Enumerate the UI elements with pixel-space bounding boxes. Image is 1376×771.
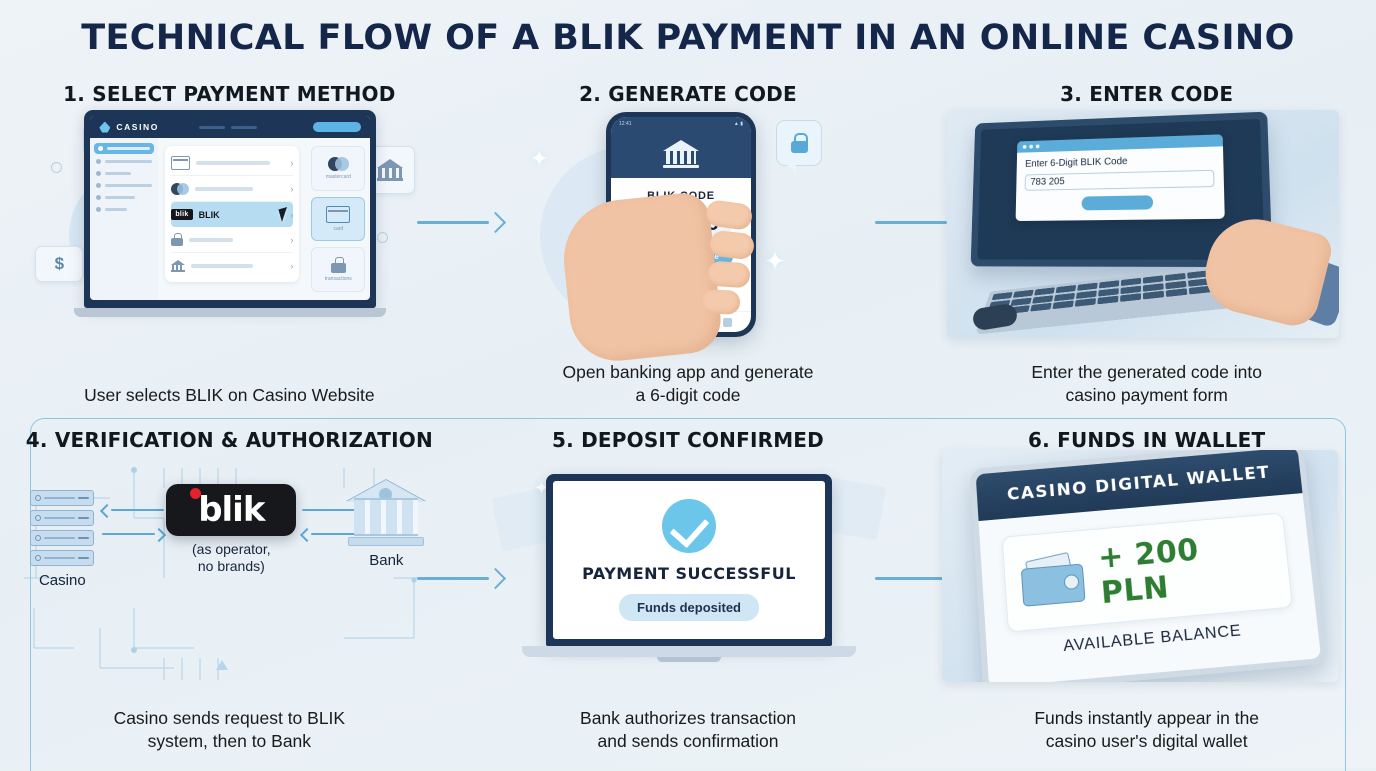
laptop-base — [74, 308, 386, 317]
finger — [702, 289, 741, 314]
server-unit — [30, 550, 94, 566]
caption-line: Bank authorizes transaction — [459, 707, 918, 729]
sidebar-item[interactable] — [96, 171, 152, 176]
tile-label: mastercard — [326, 174, 351, 180]
steps-row-top: 1. SELECT PAYMENT METHOD $ — [0, 82, 1376, 412]
scene-photo: CASINO DIGITAL WALLET + 200 PLN AVAILABL… — [942, 450, 1338, 682]
mastercard-icon — [328, 157, 348, 171]
note-line: no brands) — [166, 558, 296, 575]
payment-method-row-card[interactable]: › — [171, 150, 293, 176]
chevron-right-icon: › — [290, 210, 293, 220]
bank-node: Bank — [346, 480, 426, 569]
bank-label: Bank — [346, 552, 426, 569]
blik-dot-icon — [190, 488, 201, 499]
deposit-amount: + 200 PLN — [1097, 527, 1275, 611]
nav-placeholder[interactable] — [199, 126, 225, 129]
step-2-caption: Open banking app and generate a 6-digit … — [459, 361, 918, 406]
bank-app-header — [611, 130, 751, 178]
sidebar-item[interactable] — [96, 207, 152, 212]
caption-line: Open banking app and generate — [459, 361, 918, 383]
step-2: 2. GENERATE CODE ✦ ✦ 12:41 ▲ ▮ — [459, 82, 918, 412]
status-time: 12:41 — [619, 121, 632, 127]
bank-icon — [346, 480, 426, 546]
sidebar-item[interactable] — [96, 183, 152, 188]
window-dot — [1029, 145, 1033, 149]
chevron-right-icon: › — [290, 184, 293, 194]
casino-label: Casino — [30, 572, 94, 589]
lock-icon — [331, 257, 346, 273]
caption-line: a 6-digit code — [459, 384, 918, 406]
phone-status-bar: 12:41 ▲ ▮ — [611, 117, 751, 130]
payment-method-row-bank[interactable]: › — [171, 253, 293, 278]
blik-logo: blik — [166, 484, 296, 536]
site-header: CASINO — [90, 116, 370, 138]
tile-label: transactions — [325, 276, 352, 282]
caption-line: casino payment form — [917, 384, 1376, 406]
blik-note: (as operator, no brands) — [166, 541, 296, 575]
sidebar-item[interactable] — [96, 195, 152, 200]
step-4: 4. VERIFICATION & AUTHORIZATION — [0, 428, 459, 758]
dollar-card-icon: $ — [35, 246, 83, 282]
profile-icon[interactable] — [723, 318, 732, 327]
step-5-illustration: ✦ PAYMENT SUCCESSFUL Funds deposited — [488, 450, 888, 715]
payment-status-text: PAYMENT SUCCESSFUL — [582, 564, 796, 583]
step-6-caption: Funds instantly appear in the casino use… — [917, 707, 1376, 752]
tile-mastercard[interactable]: mastercard — [311, 146, 365, 191]
laptop-device: PAYMENT SUCCESSFUL Funds deposited — [546, 474, 832, 662]
decorative-circle-icon — [377, 232, 388, 243]
site-body: › › blik BLIK — [90, 138, 370, 300]
casino-payment-form: Enter 6-Digit BLIK Code 783 205 — [1015, 134, 1224, 221]
tile-label: card — [333, 226, 343, 232]
bank-icon — [663, 140, 699, 168]
step-1-illustration: $ CASINO — [29, 110, 429, 360]
laptop-lid: PAYMENT SUCCESSFUL Funds deposited — [546, 474, 832, 646]
step-3: 3. ENTER CODE Enter — [917, 82, 1376, 412]
step-5-heading: 5. DEPOSIT CONFIRMED — [459, 428, 918, 452]
sparkle-icon: ✦ — [530, 146, 548, 172]
lock-icon — [171, 233, 183, 246]
step-1-caption: User selects BLIK on Casino Website — [0, 384, 459, 406]
caption-line: Funds instantly appear in the — [917, 707, 1376, 729]
arrow-blik-to-casino — [102, 504, 164, 515]
finger — [707, 261, 751, 289]
tile-transactions[interactable]: transactions — [311, 247, 365, 292]
step-6: 6. FUNDS IN WALLET CASINO DIGITAL WALLET — [917, 428, 1376, 758]
step-4-illustration: Casino blik (as operator, no brands) — [14, 458, 444, 688]
window-dot — [1035, 144, 1039, 148]
caption-line: Casino sends request to BLIK — [0, 707, 459, 729]
payment-tiles: mastercard card transactions — [306, 138, 370, 300]
page-title: TECHNICAL FLOW OF A BLIK PAYMENT IN AN O… — [0, 18, 1376, 58]
chevron-right-icon: › — [290, 158, 293, 168]
hand-holding-phone — [558, 191, 724, 366]
blik-logo-icon: blik — [171, 209, 192, 220]
step-1-heading: 1. SELECT PAYMENT METHOD — [0, 82, 459, 106]
laptop-lid: CASINO — [84, 110, 376, 308]
payment-method-label-blik: BLIK — [199, 210, 220, 220]
server-unit — [30, 530, 94, 546]
step-4-caption: Casino sends request to BLIK system, the… — [0, 707, 459, 752]
payment-method-row-blik[interactable]: blik BLIK › — [171, 202, 293, 227]
status-icons: ▲ ▮ — [734, 121, 743, 127]
step-5-caption: Bank authorizes transaction and sends co… — [459, 707, 918, 752]
form-body: Enter 6-Digit BLIK Code 783 205 — [1015, 146, 1224, 221]
step-5: 5. DEPOSIT CONFIRMED ✦ PAYMENT SUCCESSFU… — [459, 428, 918, 758]
tablet-device: CASINO DIGITAL WALLET + 200 PLN AVAILABL… — [969, 450, 1327, 682]
bank-icon — [171, 260, 185, 272]
step-3-illustration: Enter 6-Digit BLIK Code 783 205 — [947, 110, 1347, 360]
spade-logo-icon — [99, 122, 110, 133]
site-brand: CASINO — [116, 122, 159, 132]
wallet-icon — [1020, 554, 1086, 607]
window-dot — [1022, 145, 1026, 149]
blik-operator-node: blik (as operator, no brands) — [166, 484, 296, 575]
laptop-device: CASINO — [84, 110, 376, 317]
sidebar-item-active[interactable] — [94, 143, 154, 154]
step-6-illustration: CASINO DIGITAL WALLET + 200 PLN AVAILABL… — [942, 450, 1352, 700]
caption-line: system, then to Bank — [0, 730, 459, 752]
server-unit — [30, 490, 94, 506]
step-6-heading: 6. FUNDS IN WALLET — [917, 428, 1376, 452]
security-badge — [776, 120, 822, 166]
sidebar-item[interactable] — [96, 159, 152, 164]
infographic-canvas: TECHNICAL FLOW OF A BLIK PAYMENT IN AN O… — [0, 0, 1376, 768]
step-3-heading: 3. ENTER CODE — [917, 82, 1376, 106]
credit-card-icon — [326, 206, 350, 223]
lock-icon — [791, 133, 808, 153]
nav-placeholder[interactable] — [231, 126, 257, 129]
casino-servers-node: Casino — [30, 490, 94, 589]
laptop-base — [522, 646, 856, 657]
caption-line: Enter the generated code into — [917, 361, 1376, 383]
note-line: (as operator, — [166, 541, 296, 558]
sparkle-icon: ✦ — [764, 246, 786, 277]
funds-deposited-badge: Funds deposited — [619, 594, 759, 621]
wallet-balance-card: + 200 PLN — [1001, 512, 1293, 632]
step-2-illustration: ✦ ✦ 12:41 ▲ ▮ BLIK CODE 783 205 — [488, 106, 888, 364]
laptop-screen: CASINO — [90, 116, 370, 300]
step-1: 1. SELECT PAYMENT METHOD $ — [0, 82, 459, 412]
wallet-header: CASINO DIGITAL WALLET — [975, 450, 1302, 521]
caption-line: casino user's digital wallet — [917, 730, 1376, 752]
step-3-caption: Enter the generated code into casino pay… — [917, 361, 1376, 406]
payment-method-row-mastercard[interactable]: › — [171, 176, 293, 202]
step-4-heading: 4. VERIFICATION & AUTHORIZATION — [0, 428, 459, 452]
submit-button[interactable] — [1081, 195, 1153, 210]
step-2-heading: 2. GENERATE CODE — [459, 82, 918, 106]
mastercard-icon — [171, 183, 189, 195]
chevron-right-icon: › — [290, 261, 293, 271]
scene-photo: Enter 6-Digit BLIK Code 783 205 — [947, 110, 1339, 338]
laptop-base-lip — [657, 657, 721, 662]
chevron-right-icon: › — [290, 235, 293, 245]
site-sidebar — [90, 138, 158, 300]
steps-row-bottom: 4. VERIFICATION & AUTHORIZATION — [0, 428, 1376, 758]
arrow-casino-to-blik — [102, 528, 164, 539]
decorative-circle-icon — [51, 162, 62, 173]
credit-card-icon — [171, 156, 190, 170]
check-circle-icon — [662, 499, 716, 553]
form-label: Enter 6-Digit BLIK Code — [1025, 154, 1214, 170]
caption-line: and sends confirmation — [459, 730, 918, 752]
laptop-screen: PAYMENT SUCCESSFUL Funds deposited — [553, 481, 825, 639]
wallet-header-text: CASINO DIGITAL WALLET — [1006, 463, 1271, 505]
payment-method-row-secure[interactable]: › — [171, 227, 293, 253]
tablet-screen: CASINO DIGITAL WALLET + 200 PLN AVAILABL… — [975, 450, 1320, 682]
tile-card[interactable]: card — [311, 197, 365, 242]
blik-code-input[interactable]: 783 205 — [1024, 170, 1214, 191]
server-unit — [30, 510, 94, 526]
login-button[interactable] — [313, 122, 361, 132]
